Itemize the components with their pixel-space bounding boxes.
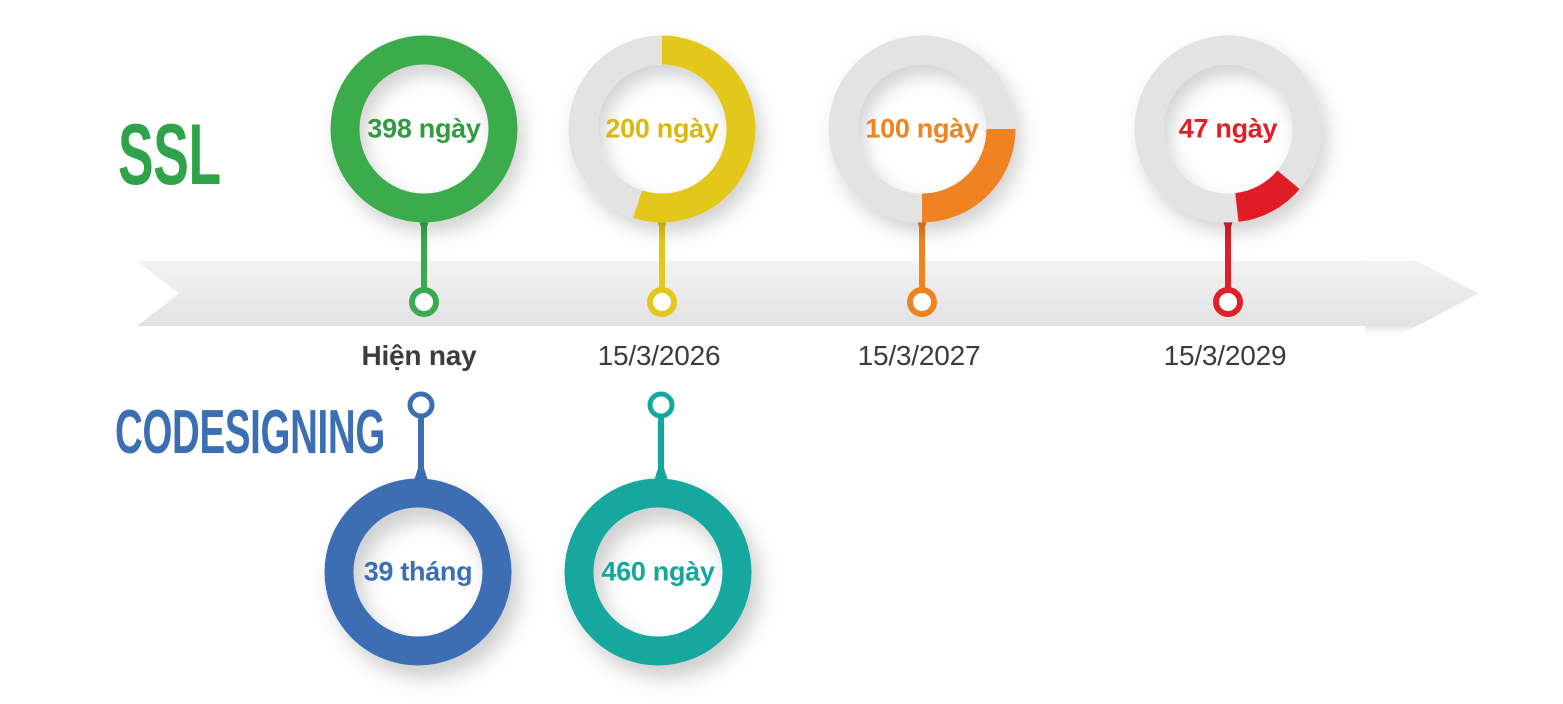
timeline-date-2: 15/3/2026 bbox=[529, 340, 789, 372]
ssl-donut-1[interactable]: 398 ngày bbox=[328, 33, 520, 225]
ssl-marker-4[interactable] bbox=[1210, 284, 1246, 325]
row-label-codesigning: CODESIGNING bbox=[115, 402, 385, 464]
ssl-donut-3[interactable]: 100 ngày bbox=[826, 33, 1018, 225]
codesigning-donut-2[interactable]: 460 ngày bbox=[562, 476, 754, 668]
timeline-date-1: Hiện nay bbox=[289, 340, 549, 372]
ssl-marker-1[interactable] bbox=[406, 284, 442, 325]
ssl-donut-2[interactable]: 200 ngày bbox=[566, 33, 758, 225]
timeline-arrow-track bbox=[97, 261, 1479, 326]
codesigning-donut-1[interactable]: 39 tháng bbox=[322, 476, 514, 668]
ssl-donut-4[interactable]: 47 ngày bbox=[1132, 33, 1324, 225]
infographic-canvas: SSL 398 ngày bbox=[0, 0, 1563, 704]
ssl-marker-3[interactable] bbox=[904, 284, 940, 325]
row-label-ssl: SSL bbox=[118, 112, 221, 198]
timeline-date-4: 15/3/2029 bbox=[1095, 340, 1355, 372]
timeline-date-3: 15/3/2027 bbox=[789, 340, 1049, 372]
ssl-marker-2[interactable] bbox=[644, 284, 680, 325]
